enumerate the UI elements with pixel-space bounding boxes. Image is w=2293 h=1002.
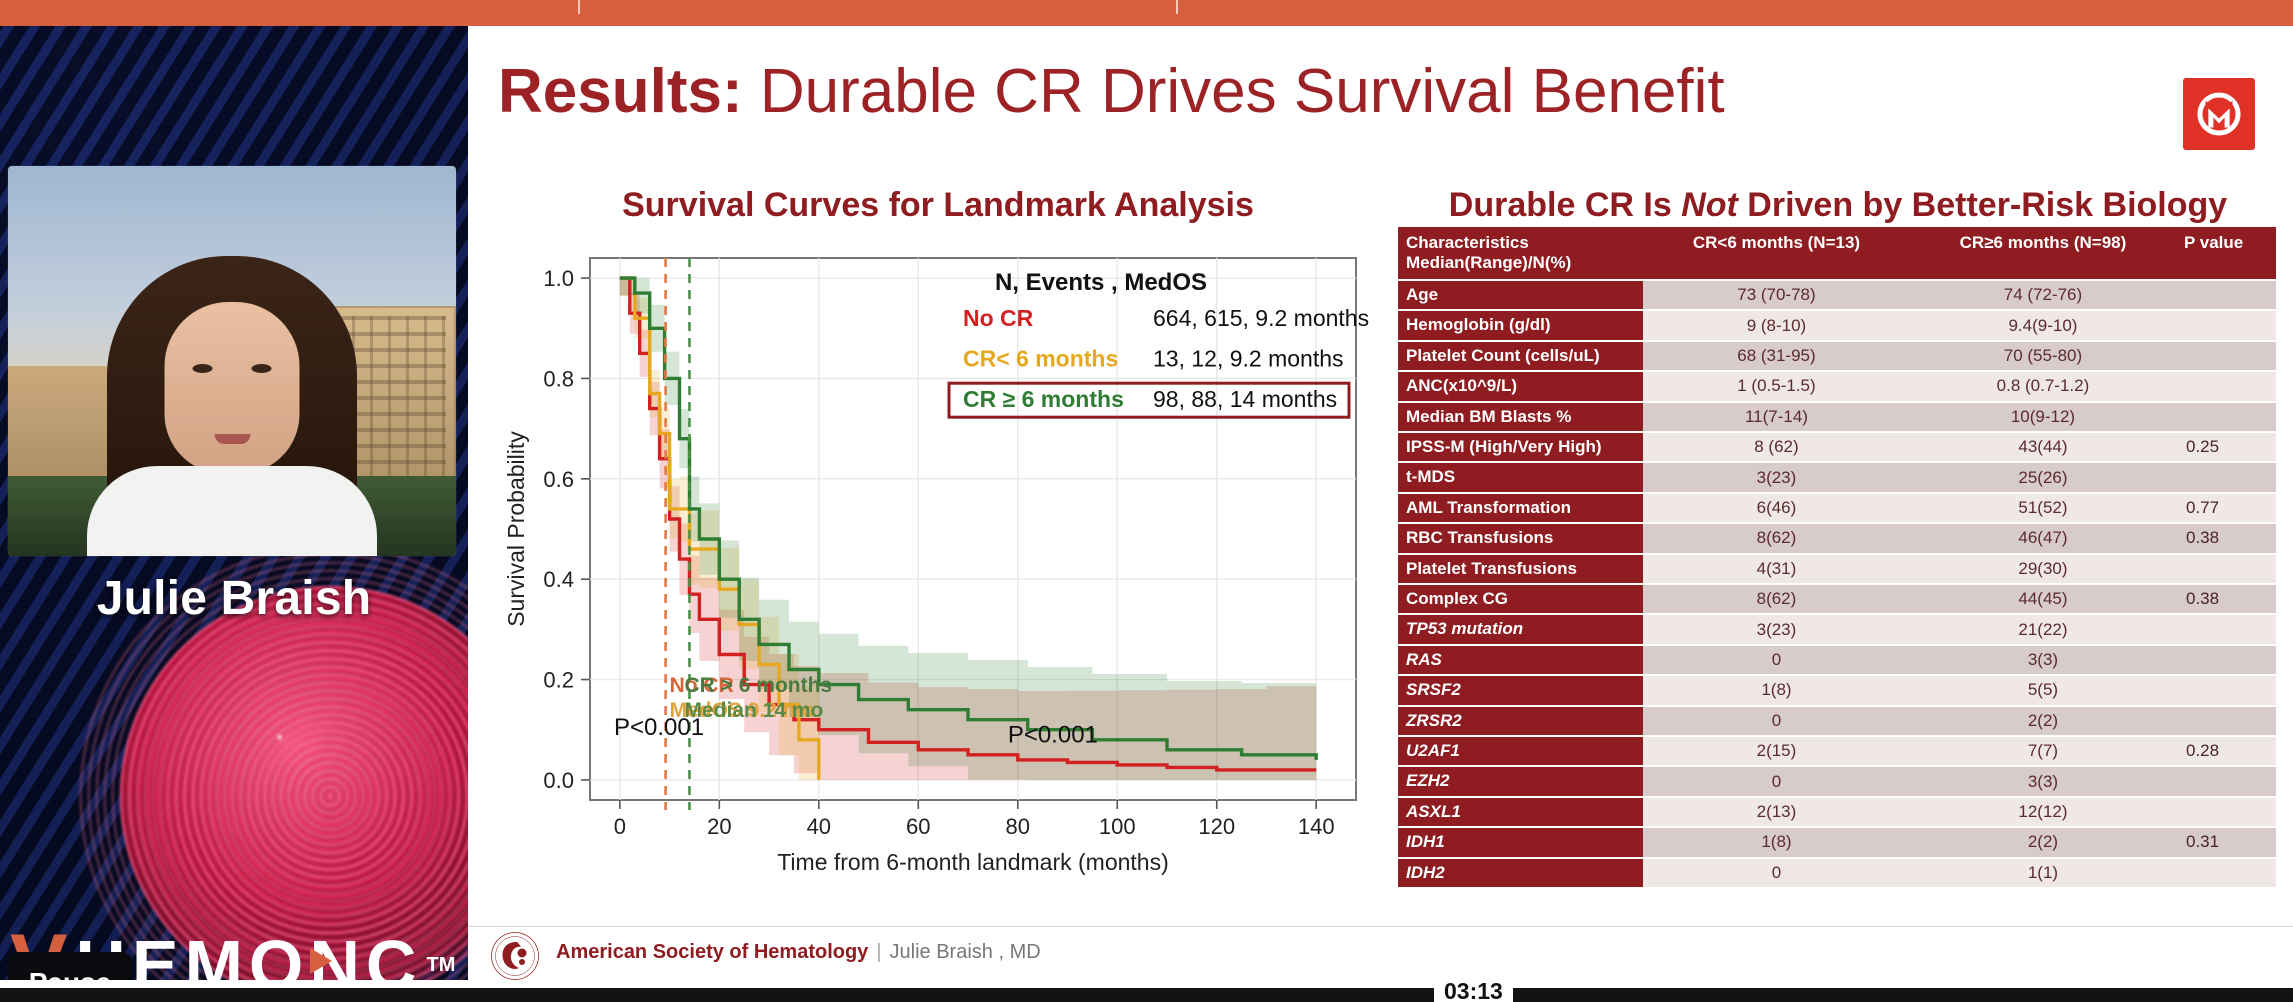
cell-cr-ge6: 21(22) — [1910, 615, 2176, 643]
col-header-pvalue: P value — [2176, 227, 2276, 279]
row-label: IPSS-M (High/Very High) — [1398, 433, 1643, 461]
slide-content: Results: Durable CR Drives Survival Bene… — [468, 26, 2293, 1002]
table-title-pre: Durable CR Is — [1449, 186, 1681, 224]
svg-text:40: 40 — [807, 814, 831, 839]
cell-pvalue: 0.38 — [2176, 585, 2276, 613]
cell-cr-ge6: 5(5) — [1910, 676, 2176, 704]
table-row: EZH203(3) — [1398, 767, 2276, 795]
table-row: IDH11(8)2(2)0.31 — [1398, 828, 2276, 856]
speaker-eye-left — [193, 364, 213, 373]
cell-pvalue — [2176, 707, 2276, 735]
row-label: EZH2 — [1398, 767, 1643, 795]
cell-pvalue — [2176, 798, 2276, 826]
cell-pvalue: 0.31 — [2176, 828, 2276, 856]
cell-cr-lt6: 73 (70-78) — [1643, 281, 1910, 309]
speaker-video-panel[interactable]: Julie Braish VHEMONCTM Pause — [0, 26, 468, 1002]
row-label: AML Transformation — [1398, 494, 1643, 522]
col-header-characteristics: Characteristics Median(Range)/N(%) — [1398, 227, 1643, 279]
svg-text:Time from 6-month landmark (mo: Time from 6-month landmark (months) — [777, 849, 1169, 875]
row-label: Platelet Count (cells/uL) — [1398, 342, 1643, 370]
row-label: t-MDS — [1398, 463, 1643, 491]
cell-pvalue — [2176, 281, 2276, 309]
cell-cr-lt6: 3(23) — [1643, 463, 1910, 491]
cell-pvalue: 0.25 — [2176, 433, 2276, 461]
cell-cr-ge6: 46(47) — [1910, 524, 2176, 552]
table-row: Platelet Count (cells/uL)68 (31-95)70 (5… — [1398, 342, 2276, 370]
page-title-bold: Results: — [498, 57, 743, 126]
cell-cr-lt6: 11(7-14) — [1643, 403, 1910, 431]
cell-cr-lt6: 9 (8-10) — [1643, 311, 1910, 339]
cell-cr-lt6: 0 — [1643, 859, 1910, 887]
svg-text:No CR: No CR — [963, 305, 1034, 331]
cell-cr-ge6: 1(1) — [1910, 859, 2176, 887]
row-label: Platelet Transfusions — [1398, 555, 1643, 583]
table-row: Complex CG8(62)44(45)0.38 — [1398, 585, 2276, 613]
row-label: IDH2 — [1398, 859, 1643, 887]
survival-chart: 0204060801001201400.00.20.40.60.81.0Time… — [498, 244, 1378, 904]
chapter-tick-2 — [1176, 0, 1178, 14]
cell-cr-ge6: 43(44) — [1910, 433, 2176, 461]
cell-cr-ge6: 7(7) — [1910, 737, 2176, 765]
cell-cr-lt6: 68 (31-95) — [1643, 342, 1910, 370]
footer-organization: American Society of Hematology — [556, 941, 868, 963]
speaker-shirt — [87, 466, 377, 556]
cell-cr-lt6: 1 (0.5-1.5) — [1643, 372, 1910, 400]
table-row: RAS03(3) — [1398, 646, 2276, 674]
cell-pvalue — [2176, 646, 2276, 674]
footer-text: American Society of Hematology|Julie Bra… — [556, 941, 1041, 964]
footer-separator: | — [876, 941, 881, 963]
row-label: U2AF1 — [1398, 737, 1643, 765]
hemonc-logo-tm: TM — [426, 954, 455, 977]
svg-text:1.0: 1.0 — [543, 266, 574, 291]
cell-pvalue — [2176, 342, 2276, 370]
svg-text:P<0.001: P<0.001 — [1008, 721, 1098, 748]
svg-text:Median 14 mo: Median 14 mo — [685, 699, 824, 722]
cell-cr-lt6: 0 — [1643, 646, 1910, 674]
svg-text:0.8: 0.8 — [543, 366, 574, 391]
col-header-cr-lt6: CR<6 months (N=13) — [1643, 227, 1910, 279]
cell-cr-ge6: 25(26) — [1910, 463, 2176, 491]
svg-text:20: 20 — [707, 814, 731, 839]
cell-cr-lt6: 1(8) — [1643, 676, 1910, 704]
col-header-line2: Median(Range)/N(%) — [1406, 253, 1635, 273]
svg-text:100: 100 — [1099, 814, 1136, 839]
cell-cr-lt6: 8(62) — [1643, 524, 1910, 552]
row-label: TP53 mutation — [1398, 615, 1643, 643]
cell-pvalue: 0.28 — [2176, 737, 2276, 765]
cell-cr-ge6: 74 (72-76) — [1910, 281, 2176, 309]
speaker-face — [165, 302, 300, 474]
table-body: Age73 (70-78)74 (72-76)Hemoglobin (g/dl)… — [1398, 281, 2276, 887]
svg-text:0.6: 0.6 — [543, 467, 574, 492]
cell-pvalue — [2176, 676, 2276, 704]
svg-text:120: 120 — [1198, 814, 1235, 839]
cell-cr-ge6: 2(2) — [1910, 707, 2176, 735]
row-label: Median BM Blasts % — [1398, 403, 1643, 431]
svg-text:0: 0 — [614, 814, 626, 839]
cell-pvalue — [2176, 767, 2276, 795]
col-header-cr-ge6: CR≥6 months (N=98) — [1910, 227, 2176, 279]
table-title-post: Driven by Better-Risk Biology — [1738, 186, 2227, 224]
characteristics-table: Characteristics Median(Range)/N(%) CR<6 … — [1398, 225, 2276, 889]
table-panel: Durable CR Is Not Driven by Better-Risk … — [1398, 186, 2278, 889]
table-row: SRSF21(8)5(5) — [1398, 676, 2276, 704]
md-anderson-logo — [2183, 78, 2255, 150]
svg-text:CR< 6 months: CR< 6 months — [963, 346, 1118, 372]
row-label: IDH1 — [1398, 828, 1643, 856]
table-panel-title: Durable CR Is Not Driven by Better-Risk … — [1398, 186, 2278, 225]
cell-cr-ge6: 12(12) — [1910, 798, 2176, 826]
speaker-figure — [82, 236, 382, 556]
table-row: ZRSR202(2) — [1398, 707, 2276, 735]
cell-cr-ge6: 9.4(9-10) — [1910, 311, 2176, 339]
speaker-name: Julie Braish — [0, 571, 468, 626]
col-header-line1: Characteristics — [1406, 233, 1635, 253]
player-seek-bar[interactable]: 03:13 — [0, 980, 2293, 1002]
chart-panel: Survival Curves for Landmark Analysis 02… — [488, 186, 1388, 926]
table-title-emphasis: Not — [1681, 186, 1738, 224]
cell-pvalue: 0.38 — [2176, 524, 2276, 552]
cell-pvalue — [2176, 615, 2276, 643]
table-row: t-MDS3(23)25(26) — [1398, 463, 2276, 491]
cell-cr-ge6: 70 (55-80) — [1910, 342, 2176, 370]
cell-cr-ge6: 44(45) — [1910, 585, 2176, 613]
table-row: IPSS-M (High/Very High)8 (62)43(44)0.25 — [1398, 433, 2276, 461]
chart-panel-title: Survival Curves for Landmark Analysis — [488, 186, 1388, 225]
svg-text:CR ≥ 6 months: CR ≥ 6 months — [963, 386, 1124, 412]
row-label: Complex CG — [1398, 585, 1643, 613]
row-label: ASXL1 — [1398, 798, 1643, 826]
page-title-rest: Durable CR Drives Survival Benefit — [743, 57, 1725, 126]
svg-text:140: 140 — [1298, 814, 1335, 839]
cell-cr-lt6: 2(13) — [1643, 798, 1910, 826]
speaker-mouth — [214, 434, 250, 444]
page-title: Results: Durable CR Drives Survival Bene… — [498, 56, 1725, 127]
cell-cr-lt6: 1(8) — [1643, 828, 1910, 856]
svg-text:0.0: 0.0 — [543, 768, 574, 793]
table-row: IDH201(1) — [1398, 859, 2276, 887]
table-row: U2AF12(15)7(7)0.28 — [1398, 737, 2276, 765]
table-row: TP53 mutation3(23)21(22) — [1398, 615, 2276, 643]
cell-pvalue — [2176, 403, 2276, 431]
speaker-webcam — [8, 166, 456, 556]
cell-cr-ge6: 10(9-12) — [1910, 403, 2176, 431]
cell-cr-ge6: 3(3) — [1910, 646, 2176, 674]
cell-cr-ge6: 2(2) — [1910, 828, 2176, 856]
svg-text:80: 80 — [1006, 814, 1030, 839]
ash-logo-icon — [490, 931, 540, 981]
row-label: ANC(x10^9/L) — [1398, 372, 1643, 400]
player-timestamp: 03:13 — [1434, 980, 1513, 1002]
cell-cr-ge6: 29(30) — [1910, 555, 2176, 583]
svg-text:98, 88, 14 months: 98, 88, 14 months — [1153, 386, 1337, 412]
cell-cr-lt6: 6(46) — [1643, 494, 1910, 522]
cell-pvalue — [2176, 311, 2276, 339]
row-label: Age — [1398, 281, 1643, 309]
chapter-tick-1 — [578, 0, 580, 14]
player-track[interactable] — [0, 988, 2293, 1002]
speaker-eye-right — [252, 364, 272, 373]
cell-pvalue — [2176, 463, 2276, 491]
table-header-row: Characteristics Median(Range)/N(%) CR<6 … — [1398, 227, 2276, 279]
cell-cr-lt6: 4(31) — [1643, 555, 1910, 583]
svg-text:N, Events , MedOS: N, Events , MedOS — [995, 269, 1207, 296]
cell-cr-ge6: 3(3) — [1910, 767, 2176, 795]
row-label: ZRSR2 — [1398, 707, 1643, 735]
row-label: SRSF2 — [1398, 676, 1643, 704]
cell-cr-ge6: 51(52) — [1910, 494, 2176, 522]
table-row: RBC Transfusions8(62)46(47)0.38 — [1398, 524, 2276, 552]
cell-cr-lt6: 0 — [1643, 767, 1910, 795]
table-row: Platelet Transfusions4(31)29(30) — [1398, 555, 2276, 583]
cell-cr-ge6: 0.8 (0.7-1.2) — [1910, 372, 2176, 400]
top-progress-bar[interactable] — [0, 0, 2293, 26]
video-player-page: Julie Braish VHEMONCTM Pause Results: Du… — [0, 0, 2293, 1002]
cell-cr-lt6: 2(15) — [1643, 737, 1910, 765]
table-head: Characteristics Median(Range)/N(%) CR<6 … — [1398, 227, 2276, 279]
cell-pvalue: 0.77 — [2176, 494, 2276, 522]
svg-text:13, 12, 9.2 months: 13, 12, 9.2 months — [1153, 346, 1344, 372]
table-row: Median BM Blasts %11(7-14)10(9-12) — [1398, 403, 2276, 431]
svg-text:60: 60 — [906, 814, 930, 839]
cell-pvalue — [2176, 859, 2276, 887]
cell-cr-lt6: 3(23) — [1643, 615, 1910, 643]
svg-text:0.2: 0.2 — [543, 668, 574, 693]
svg-text:CR > 6 months: CR > 6 months — [685, 674, 833, 697]
footer-presenter: Julie Braish , MD — [890, 941, 1041, 963]
km-plot-svg: 0204060801001201400.00.20.40.60.81.0Time… — [498, 244, 1378, 904]
row-label: RAS — [1398, 646, 1643, 674]
svg-text:664, 615, 9.2 months: 664, 615, 9.2 months — [1153, 305, 1369, 331]
row-label: RBC Transfusions — [1398, 524, 1643, 552]
table-row: Age73 (70-78)74 (72-76) — [1398, 281, 2276, 309]
play-triangle-icon — [310, 948, 332, 974]
table-row: ASXL12(13)12(12) — [1398, 798, 2276, 826]
cell-cr-lt6: 8 (62) — [1643, 433, 1910, 461]
cell-pvalue — [2176, 372, 2276, 400]
slide-footer: American Society of Hematology|Julie Bra… — [468, 926, 2293, 980]
table-row: ANC(x10^9/L)1 (0.5-1.5)0.8 (0.7-1.2) — [1398, 372, 2276, 400]
table-row: Hemoglobin (g/dl)9 (8-10)9.4(9-10) — [1398, 311, 2276, 339]
table-row: AML Transformation6(46)51(52)0.77 — [1398, 494, 2276, 522]
row-label: Hemoglobin (g/dl) — [1398, 311, 1643, 339]
cell-cr-lt6: 0 — [1643, 707, 1910, 735]
svg-text:Survival Probability: Survival Probability — [503, 431, 529, 627]
cell-cr-lt6: 8(62) — [1643, 585, 1910, 613]
svg-text:0.4: 0.4 — [543, 567, 574, 592]
cell-pvalue — [2176, 555, 2276, 583]
